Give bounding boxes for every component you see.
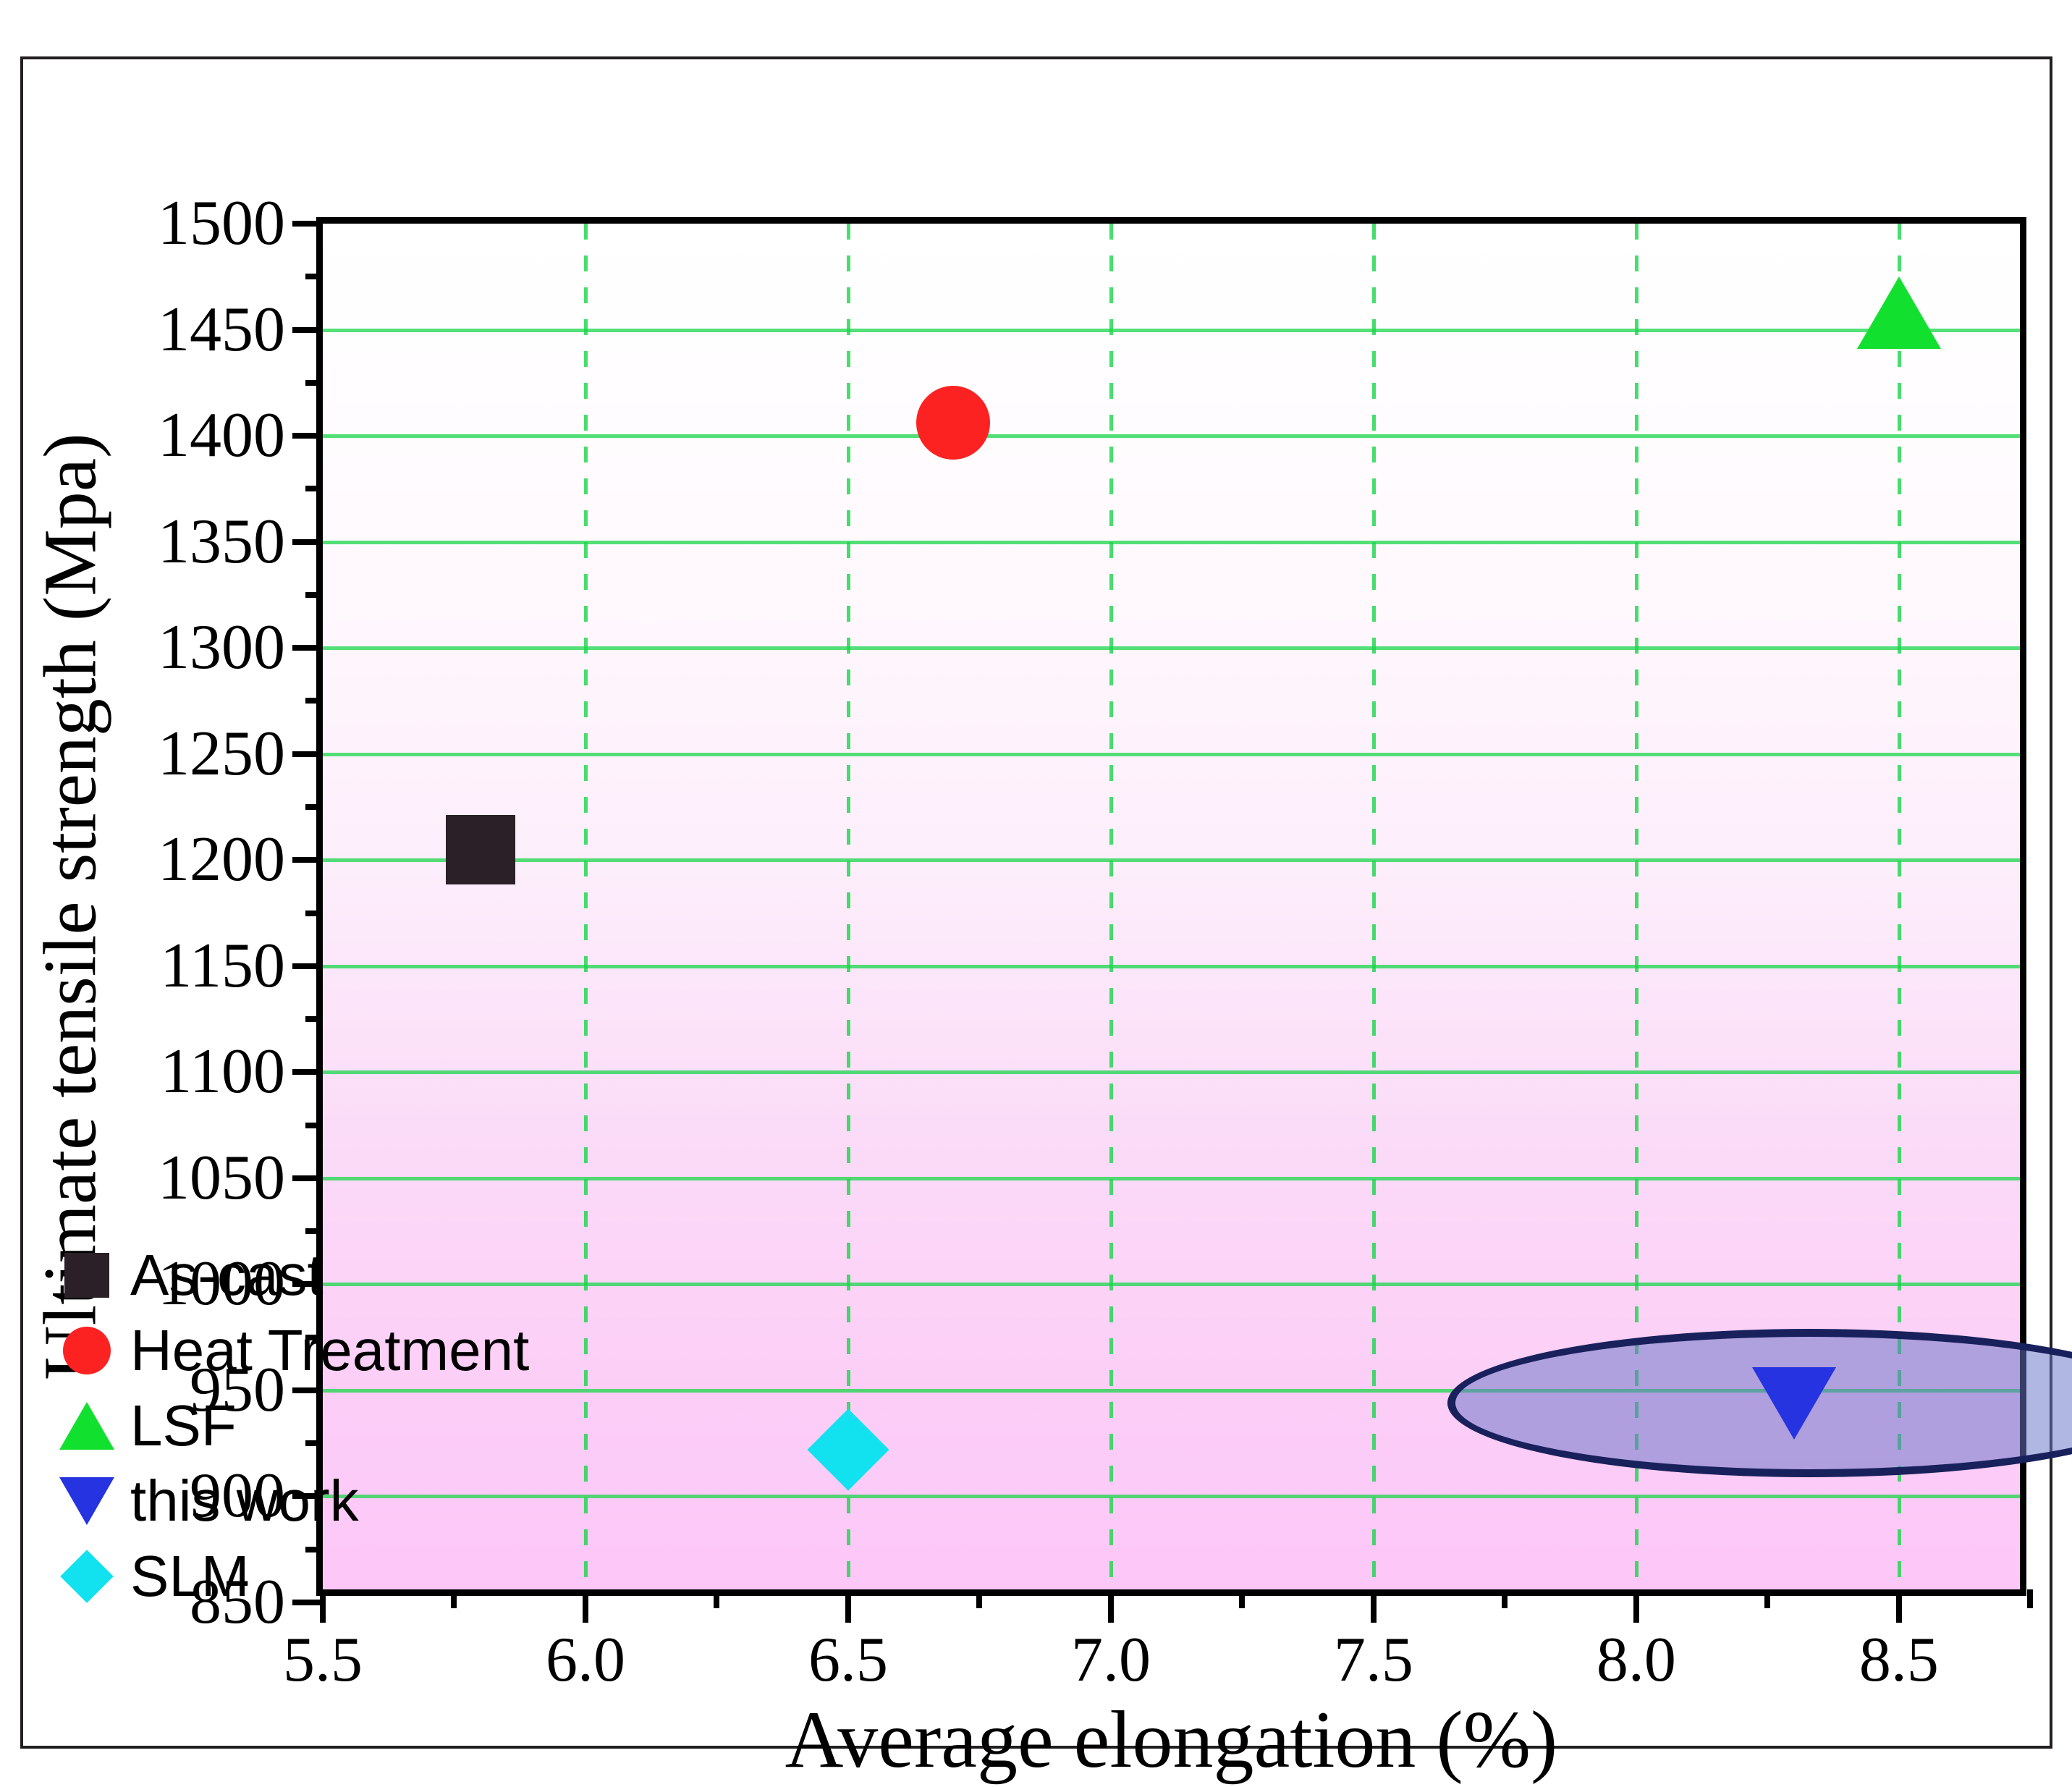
x-tick-label: 5.5 bbox=[283, 1628, 363, 1692]
x-tick-minor bbox=[1239, 1589, 1245, 1608]
gridline-horizontal bbox=[323, 1177, 2020, 1180]
gridline-horizontal bbox=[323, 329, 2020, 332]
x-tick-minor bbox=[714, 1589, 719, 1608]
gridline-horizontal bbox=[323, 1283, 2020, 1286]
y-tick-major bbox=[292, 433, 323, 439]
legend-marker-icon bbox=[43, 1558, 130, 1595]
y-tick-minor bbox=[305, 592, 323, 598]
triangle-down-icon bbox=[59, 1477, 114, 1525]
y-tick-major bbox=[292, 751, 323, 757]
x-tick-minor bbox=[2027, 1589, 2033, 1608]
y-tick-minor bbox=[305, 804, 323, 810]
gridline-vertical bbox=[584, 224, 588, 1589]
y-tick-label: 1500 bbox=[158, 192, 285, 255]
x-tick-major bbox=[1633, 1589, 1639, 1623]
y-tick-minor bbox=[305, 380, 323, 386]
legend-item-slm[interactable]: SLM bbox=[43, 1539, 529, 1614]
x-tick-minor bbox=[1502, 1589, 1508, 1608]
legend-item-heat-treatment[interactable]: Heat Treatment bbox=[43, 1313, 529, 1388]
legend-marker-icon bbox=[43, 1253, 130, 1298]
x-tick-label: 8.0 bbox=[1597, 1628, 1676, 1692]
legend-marker-icon bbox=[43, 1327, 130, 1374]
y-tick-major bbox=[292, 1069, 323, 1075]
gridline-vertical bbox=[1372, 224, 1376, 1589]
circle-icon bbox=[63, 1327, 111, 1374]
y-tick-label: 1200 bbox=[158, 828, 285, 892]
square-icon bbox=[64, 1253, 109, 1298]
legend-item-label: As-cast bbox=[130, 1246, 324, 1304]
y-tick-label: 1400 bbox=[158, 404, 285, 468]
y-tick-minor bbox=[305, 486, 323, 491]
data-point-lsf[interactable] bbox=[1857, 276, 1941, 349]
data-point-as-cast[interactable] bbox=[446, 815, 515, 884]
figure-frame: Ultimate tensile strength (Mpa) Average … bbox=[20, 56, 2052, 1749]
gridline-vertical bbox=[1109, 224, 1113, 1589]
x-axis-title: Average elongation (%) bbox=[316, 1694, 2026, 1787]
y-tick-label: 1450 bbox=[158, 298, 285, 362]
y-tick-minor bbox=[305, 1228, 323, 1234]
x-tick-major bbox=[845, 1589, 851, 1623]
y-tick-major bbox=[292, 645, 323, 651]
x-tick-minor bbox=[976, 1589, 982, 1608]
legend-item-this-work[interactable]: this work bbox=[43, 1463, 529, 1539]
legend-item-label: LSF bbox=[130, 1397, 237, 1455]
x-axis-title-text: Average elongation (%) bbox=[785, 1695, 1558, 1785]
y-tick-major bbox=[292, 857, 323, 863]
y-tick-minor bbox=[305, 1016, 323, 1022]
legend-item-label: SLM bbox=[130, 1547, 250, 1605]
triangle-up-icon bbox=[59, 1402, 114, 1450]
y-tick-major bbox=[292, 221, 323, 227]
gridline-horizontal bbox=[323, 646, 2020, 650]
gridline-horizontal bbox=[323, 541, 2020, 544]
gridline-horizontal bbox=[323, 434, 2020, 438]
gridline-vertical bbox=[847, 224, 850, 1589]
x-tick-label: 6.0 bbox=[546, 1628, 625, 1692]
legend-item-as-cast[interactable]: As-cast bbox=[43, 1238, 529, 1313]
legend-marker-icon bbox=[43, 1477, 130, 1525]
y-tick-label: 1050 bbox=[158, 1146, 285, 1210]
legend-item-label: Heat Treatment bbox=[130, 1322, 529, 1380]
y-tick-minor bbox=[305, 1123, 323, 1128]
data-point-this-work[interactable] bbox=[1752, 1367, 1836, 1440]
plot-area: 8509009501000105011001150120012501300135… bbox=[316, 217, 2026, 1596]
gridline-horizontal bbox=[323, 965, 2020, 968]
x-tick-major bbox=[1108, 1589, 1114, 1623]
x-tick-major bbox=[1371, 1589, 1377, 1623]
y-tick-label: 1350 bbox=[158, 510, 285, 574]
legend-item-lsf[interactable]: LSF bbox=[43, 1388, 529, 1463]
x-tick-label: 8.5 bbox=[1859, 1628, 1939, 1692]
x-tick-major bbox=[583, 1589, 588, 1623]
gridline-horizontal bbox=[323, 858, 2020, 862]
gridline-horizontal bbox=[323, 1495, 2020, 1498]
data-point-heat-treatment[interactable] bbox=[916, 386, 990, 460]
legend: As-castHeat TreatmentLSFthis workSLM bbox=[43, 1238, 529, 1614]
x-tick-minor bbox=[1764, 1589, 1770, 1608]
y-tick-minor bbox=[305, 698, 323, 704]
y-tick-major bbox=[292, 1175, 323, 1181]
y-tick-label: 1300 bbox=[158, 616, 285, 680]
x-tick-label: 7.0 bbox=[1071, 1628, 1151, 1692]
y-tick-minor bbox=[305, 911, 323, 916]
y-tick-label: 1250 bbox=[158, 722, 285, 786]
y-tick-minor bbox=[305, 274, 323, 279]
diamond-icon bbox=[60, 1550, 114, 1603]
y-tick-label: 1150 bbox=[160, 934, 285, 998]
y-tick-label: 1100 bbox=[160, 1040, 285, 1104]
gridline-horizontal bbox=[323, 1070, 2020, 1074]
x-tick-label: 7.5 bbox=[1334, 1628, 1413, 1692]
x-tick-label: 6.5 bbox=[808, 1628, 888, 1692]
legend-item-label: this work bbox=[130, 1472, 359, 1530]
x-tick-major bbox=[1896, 1589, 1902, 1623]
y-tick-major bbox=[292, 963, 323, 969]
y-tick-major bbox=[292, 327, 323, 333]
y-tick-major bbox=[292, 539, 323, 545]
gridline-horizontal bbox=[323, 753, 2020, 756]
legend-marker-icon bbox=[43, 1402, 130, 1450]
